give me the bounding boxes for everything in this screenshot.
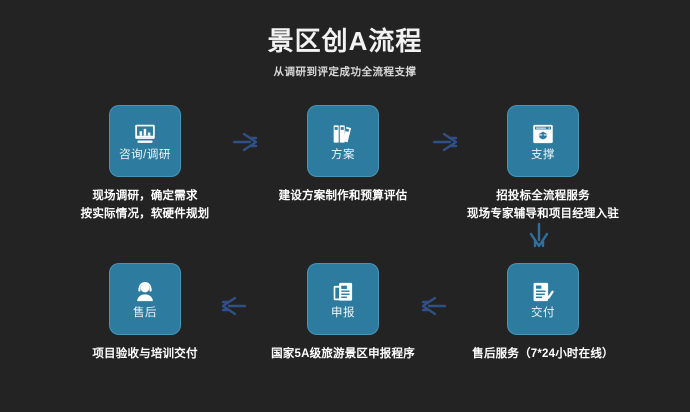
step-label: 交付 (531, 308, 555, 320)
flow-step-support[interactable]: 支撑 招投标全流程服务 现场专家辅导和项目经理入驻 (428, 100, 658, 224)
step-label: 方案 (331, 150, 355, 162)
step-caption: 建设方案制作和预算评估 (228, 188, 458, 206)
page-subtitle: 从调研到评定成功全流程支撑 (0, 64, 690, 79)
books-icon (330, 121, 356, 147)
step-card-support[interactable]: 支撑 (507, 105, 579, 177)
step-caption: 招投标全流程服务 现场专家辅导和项目经理入驻 (428, 188, 658, 224)
arrow-support-to-delivery-icon (528, 222, 550, 256)
step-card-consult[interactable]: 咨询/调研 (109, 105, 181, 177)
step-card-application[interactable]: 申报 (307, 263, 379, 335)
flow-step-delivery[interactable]: 交付 售后服务（7*24小时在线） (428, 258, 658, 364)
step-card-plan[interactable]: 方案 (307, 105, 379, 177)
stacked-documents-icon (330, 279, 356, 305)
step-label: 支撑 (531, 150, 555, 162)
page-title: 景区创A流程 (0, 26, 690, 57)
step-label: 咨询/调研 (119, 150, 171, 162)
browser-window-icon (530, 121, 556, 147)
step-caption: 国家5A级旅游景区申报程序 (228, 346, 458, 364)
step-caption: 售后服务（7*24小时在线） (428, 346, 658, 364)
headset-support-icon (132, 279, 158, 305)
step-caption: 现场调研，确定需求 按实际情况，软硬件规划 (30, 188, 260, 224)
step-label: 售后 (133, 308, 157, 320)
flow-row-top: 咨询/调研 现场调研，确定需求 按实际情况，软硬件规划 方案 (0, 100, 690, 230)
step-label: 申报 (331, 308, 355, 320)
step-caption: 项目验收与培训交付 (30, 346, 260, 364)
diagram-header: 景区创A流程 从调研到评定成功全流程支撑 (0, 26, 690, 79)
step-card-aftersales[interactable]: 售后 (109, 263, 181, 335)
bar-chart-icon (132, 121, 158, 147)
arrow-delivery-to-application-icon (413, 295, 447, 317)
arrow-consult-to-plan-icon (232, 131, 266, 153)
flow-diagram-page: 景区创A流程 从调研到评定成功全流程支撑 咨询/调研 (0, 0, 690, 412)
arrow-application-to-aftersales-icon (213, 295, 247, 317)
document-check-icon (530, 279, 556, 305)
flow-step-consult[interactable]: 咨询/调研 现场调研，确定需求 按实际情况，软硬件规划 (30, 100, 260, 224)
flow-row-bottom: 售后 项目验收与培训交付 申报 (0, 258, 690, 388)
arrow-plan-to-support-icon (432, 131, 466, 153)
step-card-delivery[interactable]: 交付 (507, 263, 579, 335)
